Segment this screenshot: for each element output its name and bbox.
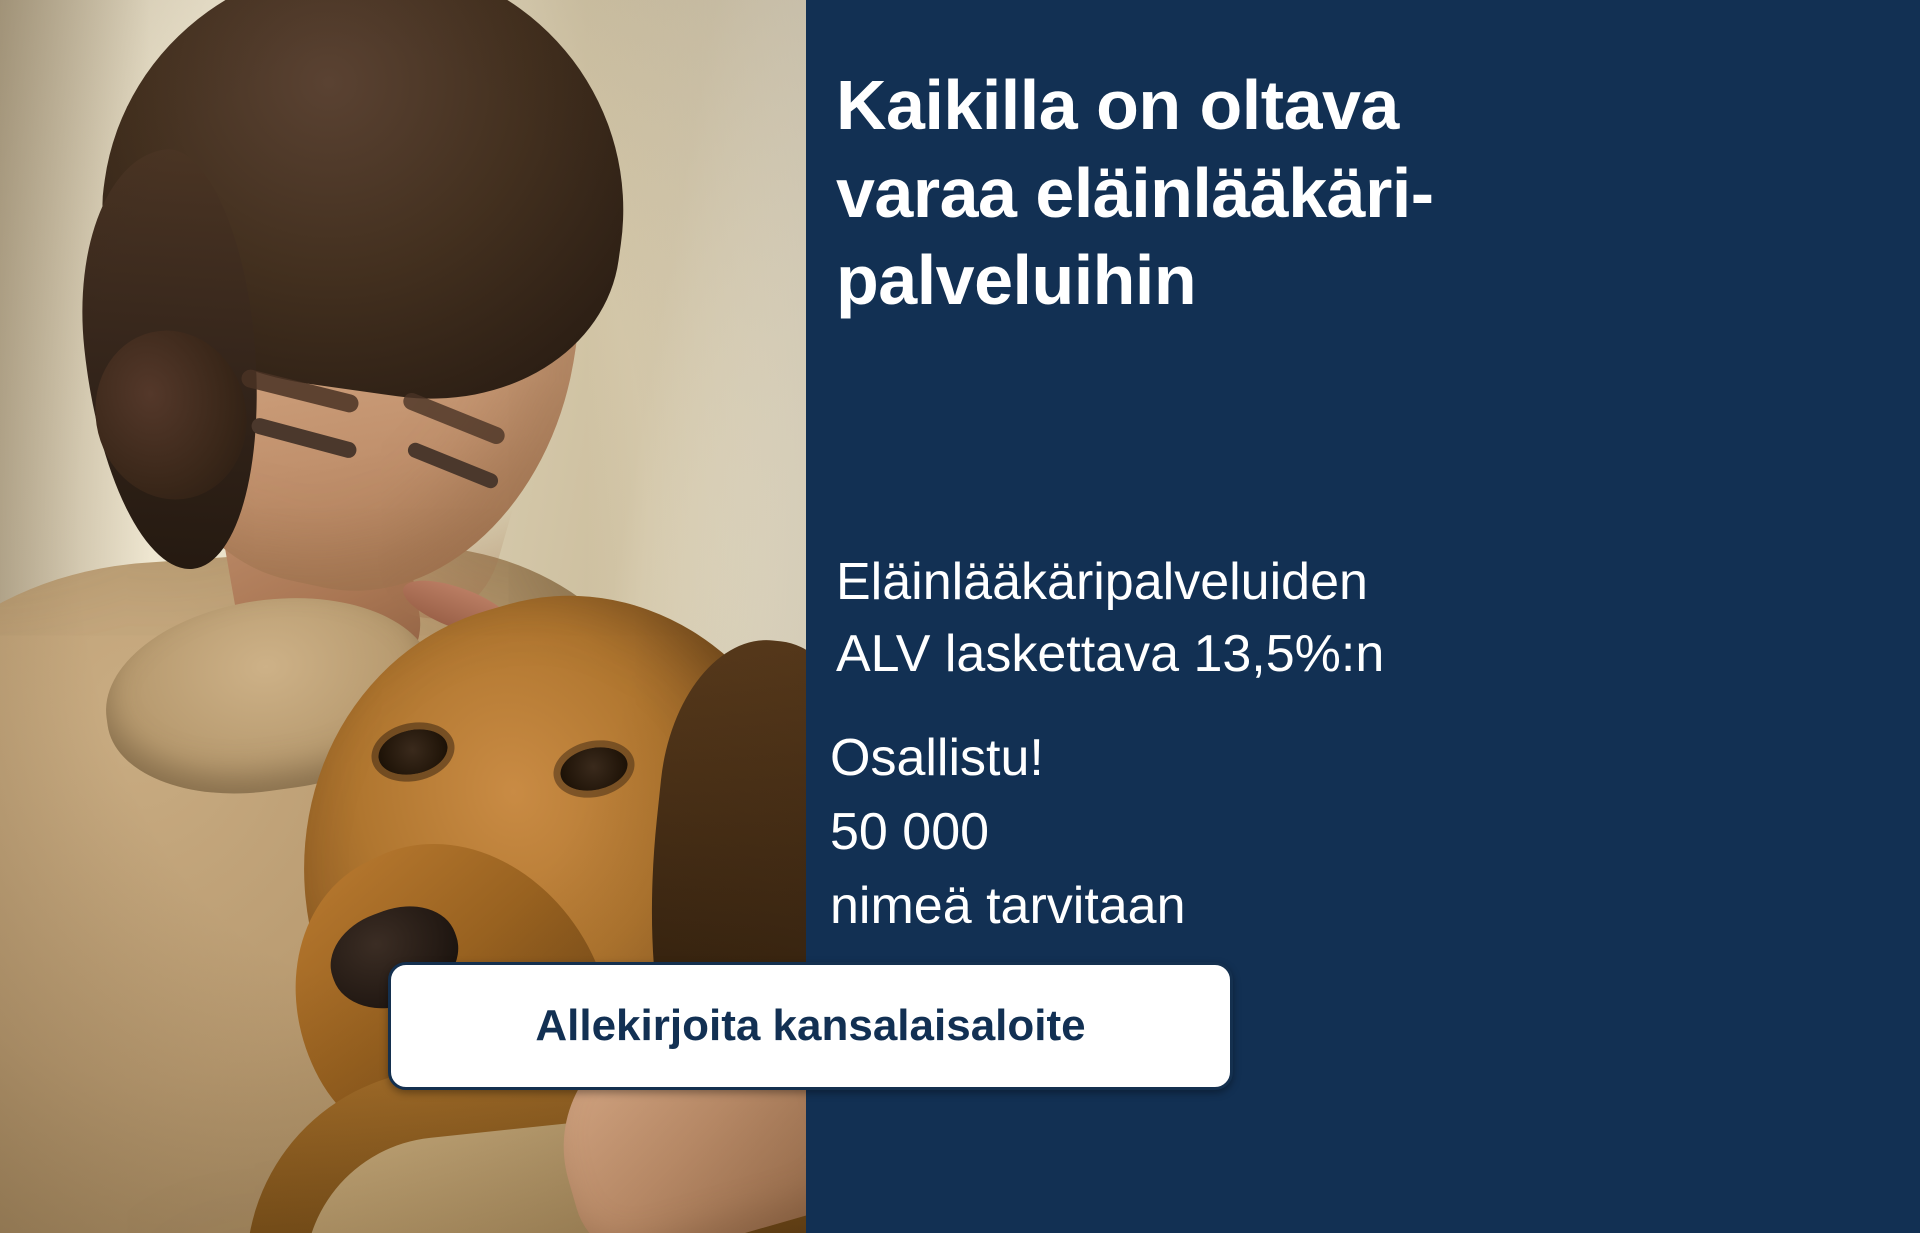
subheading-line-1: Eläinlääkäripalveluiden bbox=[836, 547, 1556, 619]
callout-line-1: Osallistu! bbox=[830, 722, 1590, 796]
callout-line-3: nimeä tarvitaan bbox=[830, 870, 1590, 944]
banner-callout: Osallistu! 50 000 nimeä tarvitaan bbox=[830, 722, 1590, 943]
campaign-banner: Kaikilla on oltava varaa eläinlääkäri-pa… bbox=[0, 0, 1920, 1233]
sign-initiative-button[interactable]: Allekirjoita kansalaisaloite bbox=[388, 962, 1233, 1090]
subheading-line-2: ALV laskettava 13,5%:n bbox=[836, 619, 1556, 691]
banner-headline: Kaikilla on oltava varaa eläinlääkäri-pa… bbox=[836, 62, 1536, 325]
callout-line-2: 50 000 bbox=[830, 796, 1590, 870]
banner-subheading: Eläinlääkäripalveluiden ALV laskettava 1… bbox=[836, 547, 1556, 691]
